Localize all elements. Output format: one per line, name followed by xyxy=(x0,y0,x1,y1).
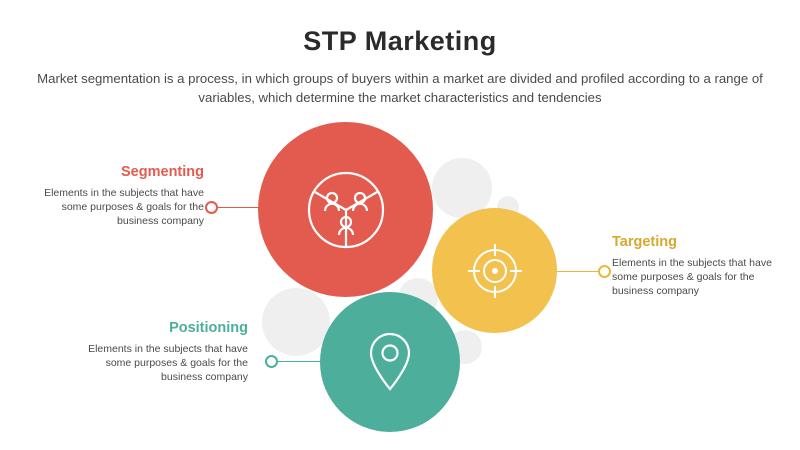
block-positioning: Positioning Elements in the subjects tha… xyxy=(88,320,248,384)
page-subtitle: Market segmentation is a process, in whi… xyxy=(30,57,770,107)
heading-targeting: Targeting xyxy=(612,234,788,250)
description-positioning: Elements in the subjects that have some … xyxy=(88,342,248,384)
description-targeting: Elements in the subjects that have some … xyxy=(612,256,788,298)
heading-segmenting: Segmenting xyxy=(30,164,204,180)
description-segmenting: Elements in the subjects that have some … xyxy=(30,186,204,228)
people-group-icon xyxy=(300,164,392,256)
connector-dot-segmenting xyxy=(205,201,218,214)
connector-dot-positioning xyxy=(265,355,278,368)
bubble-segmenting[interactable] xyxy=(258,122,433,297)
decorative-circle-3 xyxy=(262,288,330,356)
bubble-positioning[interactable] xyxy=(320,292,460,432)
heading-positioning: Positioning xyxy=(88,320,248,336)
bubble-targeting[interactable] xyxy=(432,208,557,333)
header: STP Marketing Market segmentation is a p… xyxy=(0,0,800,107)
page-title: STP Marketing xyxy=(0,0,800,57)
block-targeting: Targeting Elements in the subjects that … xyxy=(612,234,788,298)
map-pin-icon xyxy=(357,326,423,398)
connector-dot-targeting xyxy=(598,265,611,278)
block-segmenting: Segmenting Elements in the subjects that… xyxy=(30,164,204,228)
target-crosshair-icon xyxy=(464,240,526,302)
